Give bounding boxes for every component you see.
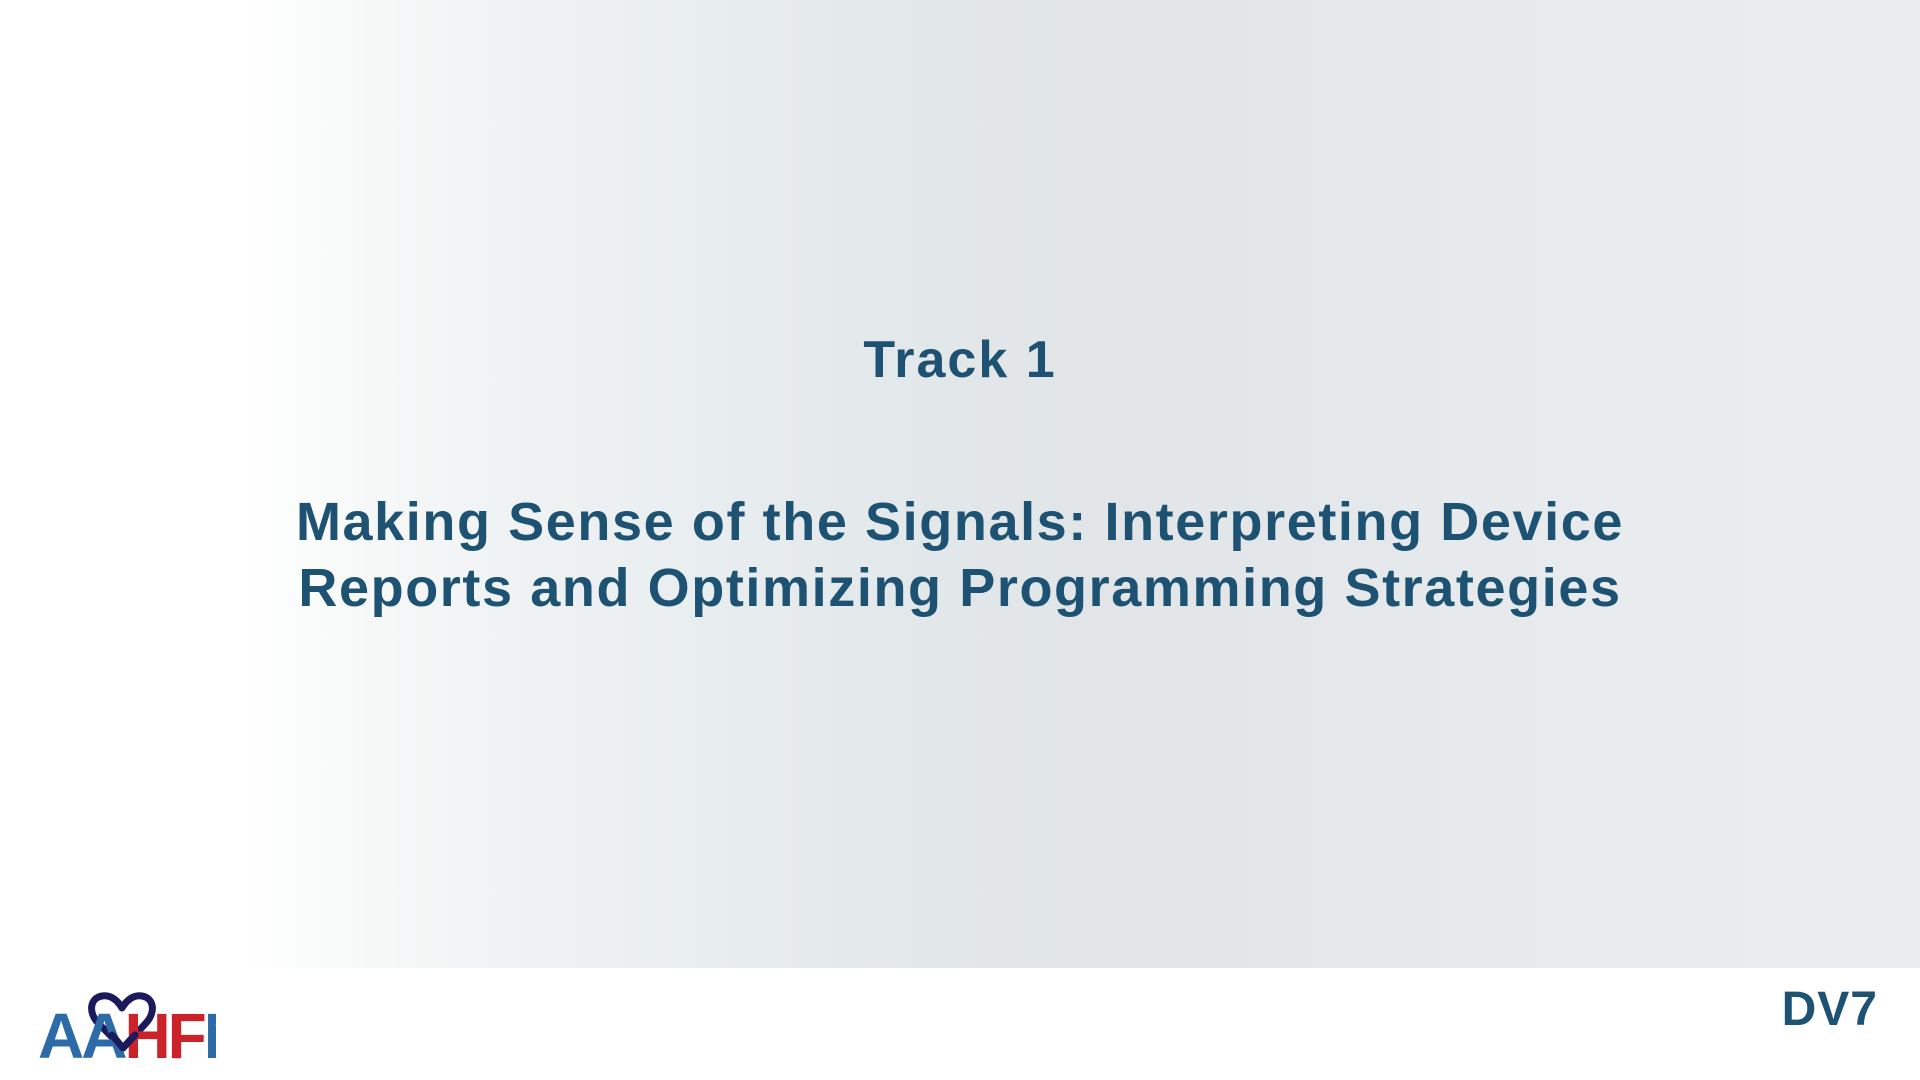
aahfn-wordmark: AAHFN [38, 1000, 216, 1068]
presentation-slide: Track 1 Making Sense of the Signals: Int… [0, 0, 1920, 1080]
deck-code: DV7 [1782, 986, 1878, 1034]
title-line-1: Making Sense of the Signals: Interpretin… [60, 490, 1860, 556]
slide-content: Track 1 Making Sense of the Signals: Int… [0, 0, 1920, 968]
aahfn-logo: AAHFN [36, 982, 216, 1068]
slide-footer: AAHFN DV7 [0, 968, 1920, 1080]
page-title: Making Sense of the Signals: Interpretin… [60, 490, 1860, 622]
track-label: Track 1 [0, 332, 1920, 389]
aahfn-logo-icon: AAHFN [36, 982, 216, 1068]
title-line-2: Reports and Optimizing Programming Strat… [60, 556, 1860, 622]
